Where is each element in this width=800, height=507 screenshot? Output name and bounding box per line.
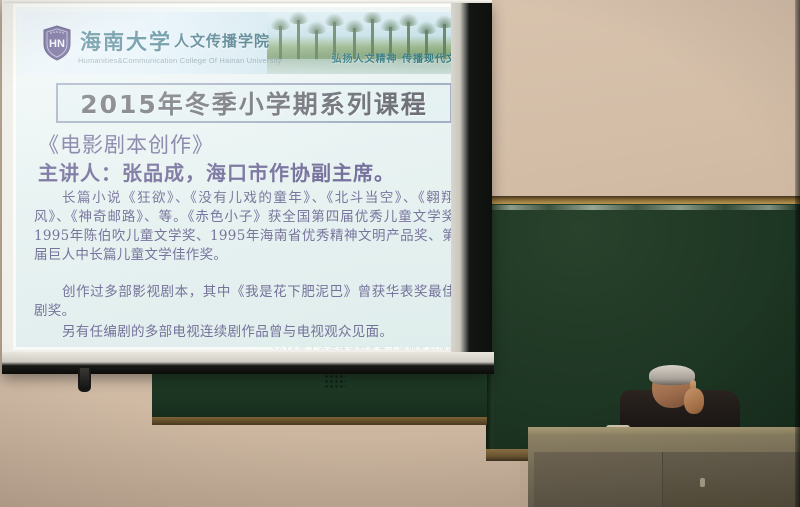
podium-panel-right (663, 452, 800, 507)
right-edge-shadow (795, 0, 800, 507)
chalk-smudge (486, 205, 800, 210)
hainan-university-shield-logo: HN (42, 25, 72, 61)
secondary-chalkboard-rail (152, 417, 487, 425)
university-name-cn: 海南大学 (80, 26, 172, 56)
slide-paragraph-2: 创作过多部影视剧本，其中《我是花下肥泥巴》曾获华表奖最佳编剧奖。 (34, 283, 470, 321)
presentation-slide: HN 海南大学 人文传播学院 Humanities&Communication … (13, 4, 485, 350)
slide-title-box: 2015年冬季小学期系列课程 (56, 83, 452, 123)
slide-footer: 2015年人文传播学院冬季小学期系列课程 (271, 344, 458, 350)
lecturer-hand (684, 388, 704, 414)
screen-pull-hook (78, 368, 91, 392)
svg-text:HN: HN (49, 38, 65, 50)
header-slogan: 弘扬人文精神 传播现代文明 (332, 50, 468, 65)
slide-title: 2015年冬季小学期系列课程 (80, 85, 428, 121)
screen-top-edge (4, 0, 492, 3)
department-name-cn: 人文传播学院 (174, 30, 270, 51)
slide-paragraph-3: 另有任编剧的多部电视连续剧作品曾与电视观众见面。 (34, 323, 470, 342)
slide-subtitle: 《电影剧本创作》 (38, 129, 214, 159)
secondary-chalkboard-surface (152, 367, 487, 424)
wall-vent-grille-icon (324, 374, 346, 388)
projection-screen: HN 海南大学 人文传播学院 Humanities&Communication … (2, 0, 490, 372)
lecturer (620, 368, 740, 434)
lecturer-hair (649, 365, 695, 385)
podium-handle (700, 478, 705, 487)
slide-presenter-line: 主讲人：张品成，海口市作协副主席。 (38, 157, 395, 186)
slide-background: HN 海南大学 人文传播学院 Humanities&Communication … (16, 7, 482, 347)
university-name-en: Humanities&Communication College Of Hain… (78, 56, 282, 65)
podium-panel-left (534, 452, 663, 507)
slide-header-banner: HN 海南大学 人文传播学院 Humanities&Communication … (22, 12, 482, 74)
screen-bottom-bar (2, 352, 494, 374)
lecture-hall-photo: HN 海南大学 人文传播学院 Humanities&Communication … (0, 0, 800, 507)
slide-paragraph-1: 长篇小说《狂欲》、《没有儿戏的童年》、《北斗当空》、《翱翔如风》、《神奇邮路》、… (34, 189, 470, 265)
screen-right-shadow (451, 0, 492, 372)
